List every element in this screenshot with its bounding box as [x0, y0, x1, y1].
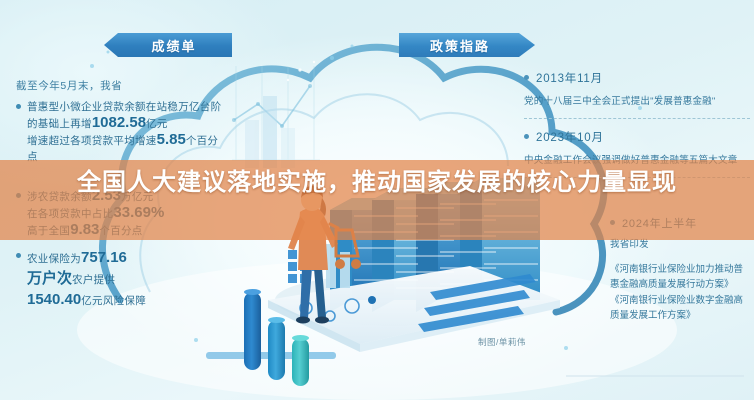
stat3-text-c: 农户提供 [72, 274, 115, 286]
stat3-value2: 1540.40 [27, 291, 81, 308]
stat3-text-a: 农业保险为 [27, 253, 81, 265]
badge-report-card: 成绩单 [104, 33, 232, 57]
timeline-body-1: 党的十八届三中全会正式提出"发展普惠金融" [524, 94, 750, 109]
badge-policy-guide: 政策指路 [399, 33, 535, 57]
headline-title: 全国人大建议落地实施，推动国家发展的核心力量显现 [0, 165, 754, 201]
stat-item-1: 普惠型小微企业贷款余额在站稳万亿台阶的基础上再增1082.58亿元 增速超过各项… [16, 99, 222, 165]
timeline-year-1: 2013年11月 [524, 70, 750, 86]
stat1-value: 1082.58 [92, 114, 146, 131]
stat1-value2: 5.85 [157, 131, 186, 148]
stat3-text-d: 亿元风险保障 [81, 295, 146, 307]
policy-doc-2: 《河南银行业保险业数字金融高质量发展工作方案》 [610, 293, 752, 324]
timeline-year-2: 2023年10月 [524, 129, 750, 145]
stat1-text-b: 亿元 [146, 118, 168, 130]
stat1-text-c: 增速超过各项贷款平均增速 [27, 135, 157, 147]
stat-item-3: 农业保险为757.16 万户次农户提供 1540.40亿元风险保障 [16, 248, 166, 311]
stat3-text-b: 万户次 [27, 270, 72, 287]
timeline-divider-1 [524, 118, 750, 119]
stat3-value: 757.16 [81, 249, 127, 266]
policy-doc-1: 《河南银行业保险业加力推动普惠金融高质量发展行动方案》 [610, 262, 752, 293]
left-stats-panel-3: 农业保险为757.16 万户次农户提供 1540.40亿元风险保障 [16, 248, 166, 320]
left-panel-lead: 截至今年5月末，我省 [16, 78, 222, 93]
infographic-canvas: 成绩单 政策指路 截至今年5月末，我省 普惠型小微企业贷款余额在站稳万亿台阶的基… [0, 0, 754, 400]
credit-line: 制图/单莉伟 [478, 336, 526, 348]
